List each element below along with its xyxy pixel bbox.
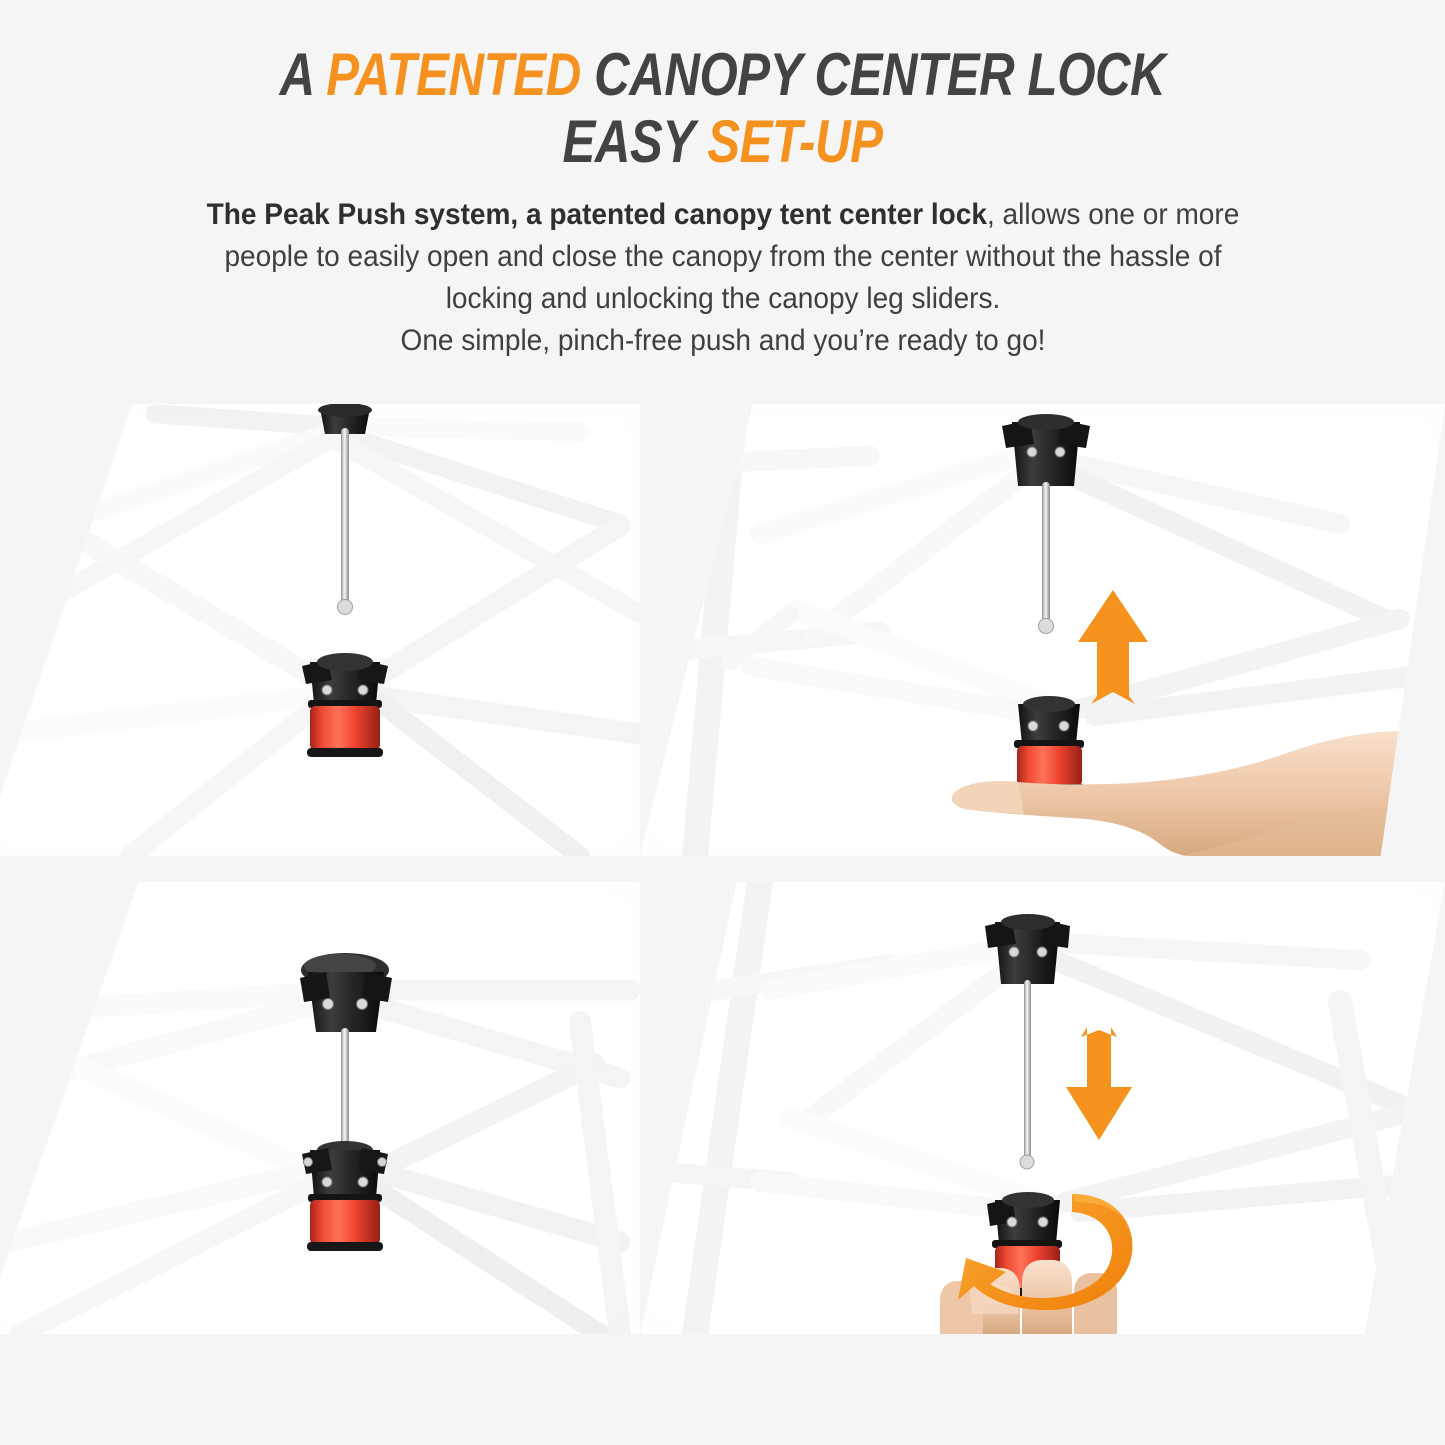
up-arrow-icon xyxy=(1078,590,1148,704)
down-arrow-icon xyxy=(1066,1027,1132,1140)
body-copy-bold-lead: The Peak Push system, a patented canopy … xyxy=(206,198,986,231)
center-lock-hub xyxy=(1014,696,1085,792)
infographic-page: A PATENTED CANOPY CENTER LOCK EASY SET-U… xyxy=(0,0,1445,1445)
canopy-frame-closed-detail xyxy=(0,404,640,856)
body-copy-line3: locking and unlocking the canopy leg sli… xyxy=(445,282,1000,315)
frame-illustration-bottom-left xyxy=(0,882,640,1334)
push-rod xyxy=(341,428,349,603)
body-copy-line1-rest: , allows one or more xyxy=(986,198,1238,231)
canopy-pull-down-step xyxy=(640,882,1445,1334)
body-copy-line4: One simple, pinch-free push and you’re r… xyxy=(400,324,1045,357)
headline-line2-accent: SET-UP xyxy=(707,108,882,175)
panel-top-left xyxy=(0,404,640,856)
canopy-frame-locked-detail xyxy=(0,882,640,1334)
red-collar xyxy=(1017,746,1082,786)
panel-bottom-left xyxy=(0,882,640,1334)
panel-row-top xyxy=(0,396,1445,858)
headline-line1-accent: PATENTED xyxy=(326,41,581,108)
red-collar xyxy=(310,706,380,750)
upper-hub-icon xyxy=(300,953,392,1032)
center-lock-hub xyxy=(302,1141,388,1251)
headline-line-1: A PATENTED CANOPY CENTER LOCK xyxy=(130,44,1315,105)
panel-top-right xyxy=(640,404,1445,856)
frame-illustration-top-left xyxy=(0,404,640,856)
canopy-push-up-step xyxy=(640,404,1445,856)
headline-block: A PATENTED CANOPY CENTER LOCK EASY SET-U… xyxy=(0,0,1445,172)
frame-illustration-top-right xyxy=(640,404,1445,856)
panel-row-bottom xyxy=(0,882,1445,1344)
push-rod xyxy=(1024,980,1031,1158)
headline-line1-part2: CANOPY CENTER LOCK xyxy=(581,41,1165,108)
headline-line1-part1: A xyxy=(280,41,327,108)
push-rod xyxy=(341,1028,349,1153)
red-collar xyxy=(310,1200,380,1244)
frame-illustration-bottom-right xyxy=(640,882,1445,1334)
panel-grid xyxy=(0,396,1445,1336)
headline-line-2: EASY SET-UP xyxy=(130,111,1315,172)
push-rod xyxy=(1042,482,1050,622)
body-copy-line2: people to easily open and close the cano… xyxy=(224,240,1221,273)
body-copy-block: The Peak Push system, a patented canopy … xyxy=(119,194,1326,362)
center-lock-hub xyxy=(302,653,388,757)
headline-line2-part1: EASY xyxy=(563,108,708,175)
panel-bottom-right xyxy=(640,882,1445,1334)
